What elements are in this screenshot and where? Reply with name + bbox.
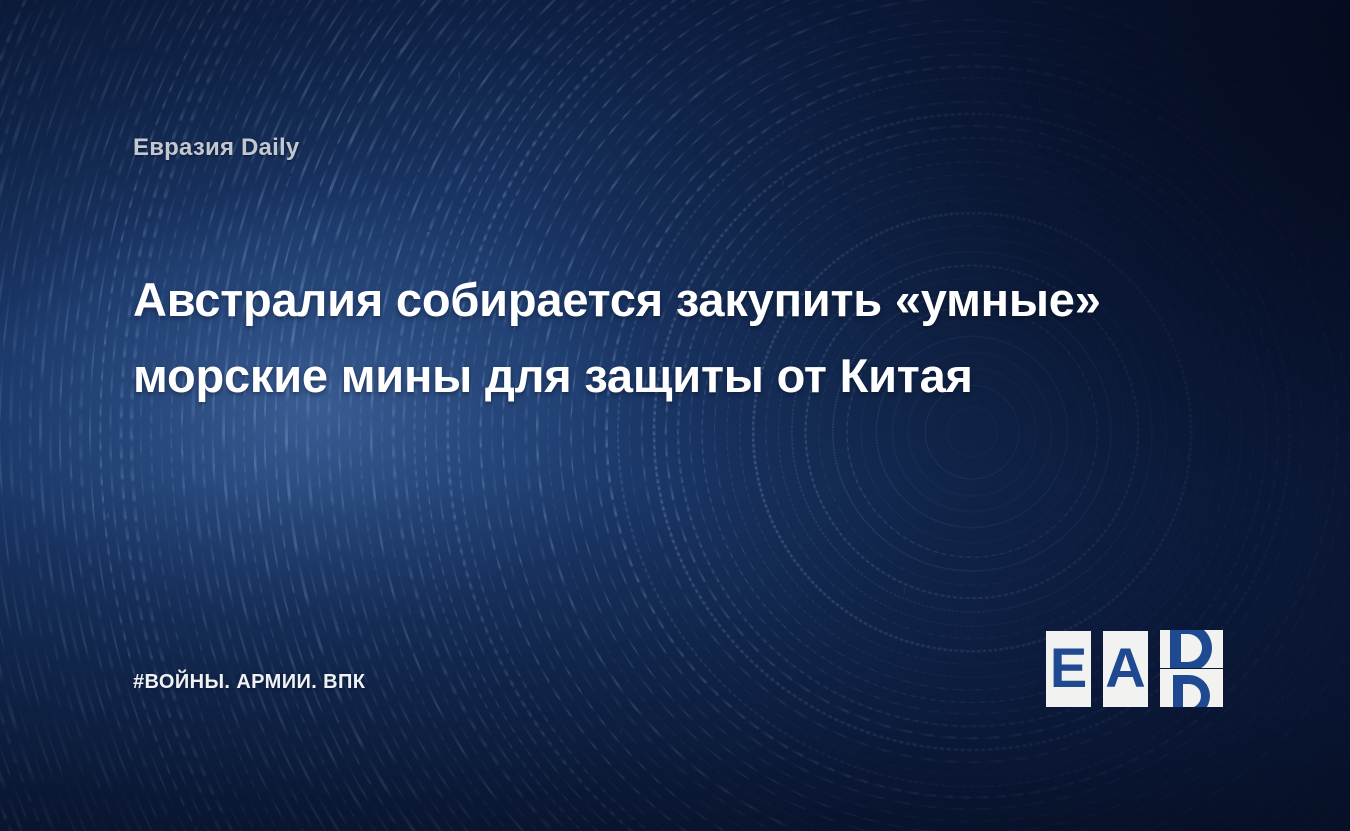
- ead-logo: E A D D: [1046, 630, 1223, 707]
- logo-tile-a: A: [1103, 631, 1148, 707]
- headline-title: Австралия собирается закупить «умные» мо…: [133, 262, 1143, 414]
- brand-name: Евразия Daily: [133, 134, 299, 162]
- logo-tile-d-top: D: [1160, 630, 1223, 668]
- logo-tile-d-bottom: D: [1160, 669, 1223, 707]
- card-content: Евразия Daily Австралия собирается закуп…: [0, 0, 1350, 831]
- logo-letter-e: E: [1050, 640, 1087, 696]
- logo-letter-d-top-icon: [1166, 630, 1218, 668]
- logo-letter-a: A: [1105, 640, 1145, 696]
- logo-tile-e: E: [1046, 631, 1091, 707]
- news-share-card: Евразия Daily Австралия собирается закуп…: [0, 0, 1350, 831]
- topic-hashtag: #ВОЙНЫ. АРМИИ. ВПК: [133, 671, 365, 694]
- logo-letter-d-bottom-icon: [1170, 672, 1214, 707]
